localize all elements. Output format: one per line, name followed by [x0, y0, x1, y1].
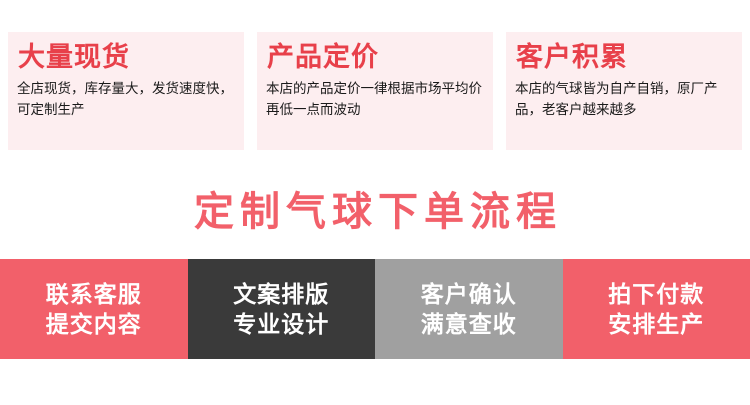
- process-step-line2: 提交内容: [46, 309, 142, 339]
- process-step-line2: 满意查收: [421, 309, 517, 339]
- feature-card-title: 大量现货: [18, 42, 236, 73]
- feature-card-title: 产品定价: [267, 42, 485, 73]
- process-step-line1: 文案排版: [233, 279, 329, 309]
- process-step-line1: 联系客服: [46, 279, 142, 309]
- process-step-design: 文案排版 专业设计: [188, 259, 376, 359]
- feature-card-stock: 大量现货 全店现货，库存量大，发货速度快，可定制生产: [8, 32, 244, 150]
- process-step-line1: 拍下付款: [608, 279, 704, 309]
- process-step-contact: 联系客服 提交内容: [0, 259, 188, 359]
- feature-card-body: 全店现货，库存量大，发货速度快，可定制生产: [17, 79, 235, 121]
- feature-card-body: 本店的气球皆为自产自销，原厂产品，老客户越来越多: [515, 79, 733, 121]
- process-step-row: 联系客服 提交内容 文案排版 专业设计 客户确认 满意查收 拍下付款 安排生产: [0, 259, 750, 359]
- feature-card-pricing: 产品定价 本店的产品定价一律根据市场平均价再低一点而波动: [257, 32, 493, 150]
- process-step-payment: 拍下付款 安排生产: [563, 259, 750, 359]
- process-step-confirm: 客户确认 满意查收: [375, 259, 563, 359]
- feature-card-body: 本店的产品定价一律根据市场平均价再低一点而波动: [266, 79, 484, 121]
- process-step-line1: 客户确认: [421, 279, 517, 309]
- promo-page: 大量现货 全店现货，库存量大，发货速度快，可定制生产 产品定价 本店的产品定价一…: [0, 0, 750, 405]
- feature-card-row: 大量现货 全店现货，库存量大，发货速度快，可定制生产 产品定价 本店的产品定价一…: [0, 32, 750, 150]
- feature-card-customers: 客户积累 本店的气球皆为自产自销，原厂产品，老客户越来越多: [506, 32, 742, 150]
- section-headline: 定制气球下单流程: [0, 188, 750, 236]
- feature-card-title: 客户积累: [516, 42, 734, 73]
- process-step-line2: 安排生产: [608, 309, 704, 339]
- process-step-line2: 专业设计: [233, 309, 329, 339]
